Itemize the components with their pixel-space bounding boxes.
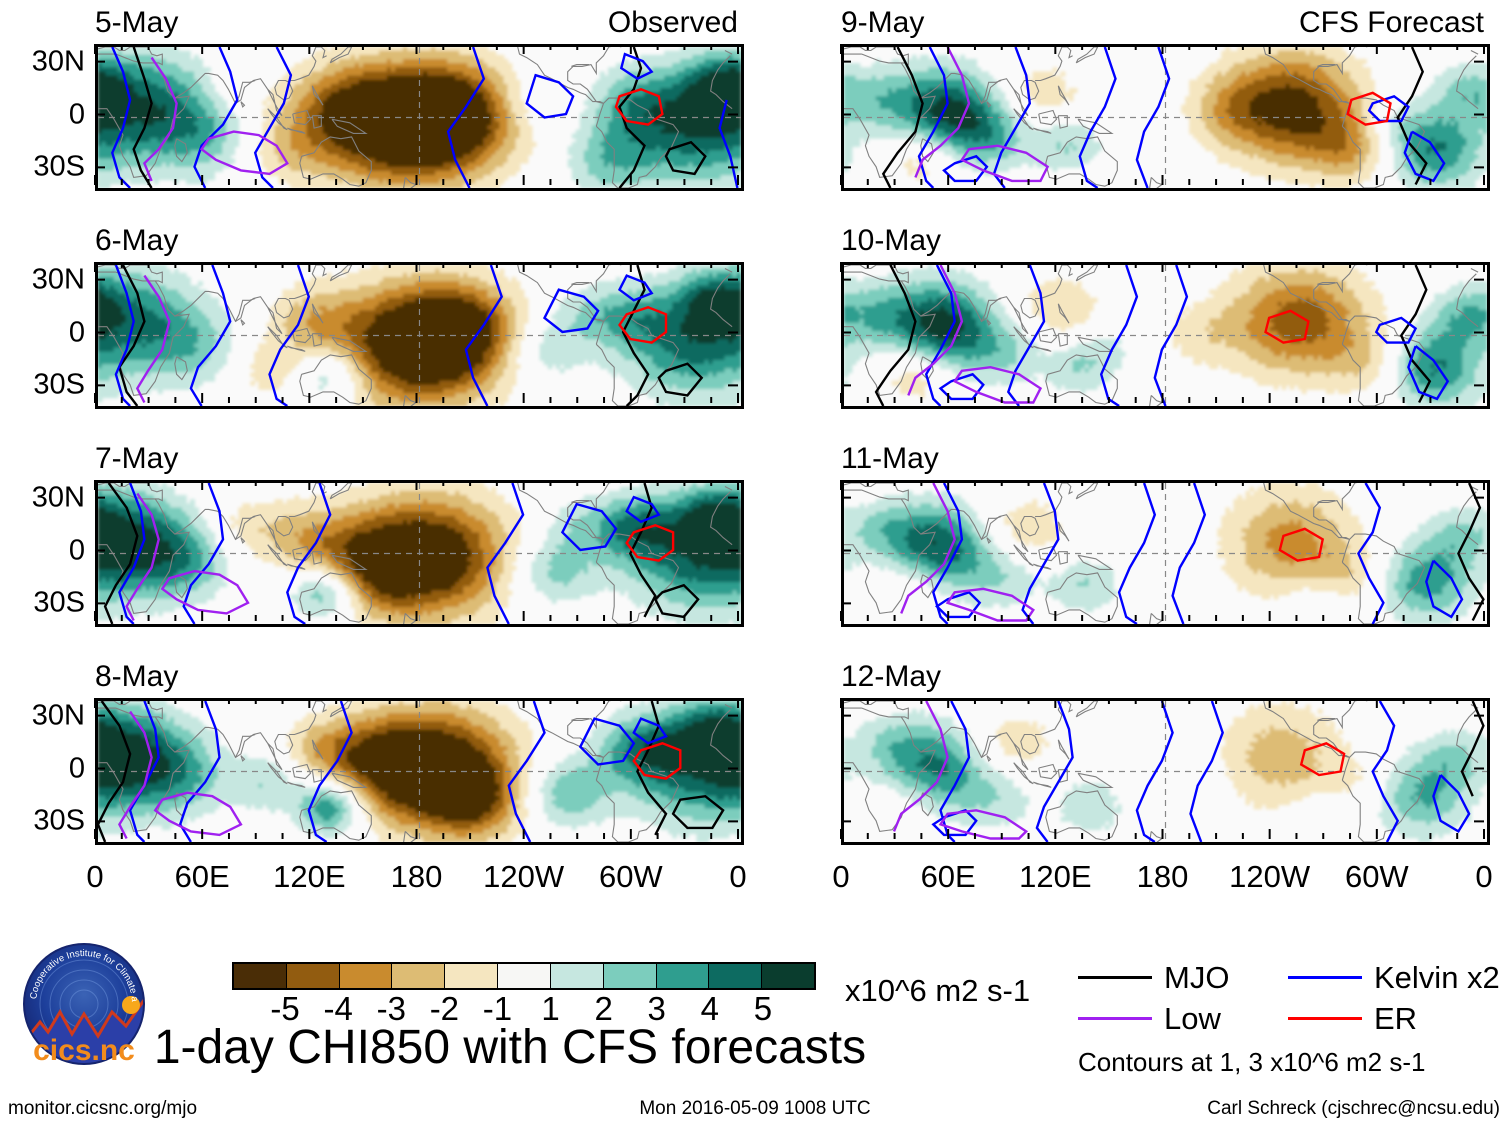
x-tick-label: 120E xyxy=(273,861,345,892)
footer: monitor.cicsnc.org/mjo Mon 2016-05-09 10… xyxy=(0,1098,1510,1128)
x-tick-label: 180 xyxy=(1137,861,1189,892)
x-axis-labels: 060E120E180120W60W0 xyxy=(95,853,738,893)
panel-date-label: 8-May xyxy=(95,662,178,692)
y-tick-label: 30S xyxy=(33,153,85,182)
map-plot-area xyxy=(841,480,1490,627)
colorbar-units: x10^6 m2 s-1 xyxy=(845,975,1030,1006)
legend-item-kelvin-x2: Kelvin x2 xyxy=(1288,962,1508,993)
legend-label: MJO xyxy=(1164,962,1229,993)
panel-date-label: 9-May xyxy=(841,8,924,38)
contour-legend: MJOKelvin x2LowER Contours at 1, 3 x10^6… xyxy=(1078,962,1508,1076)
map-plot-area xyxy=(841,698,1490,845)
colorbar-swatch xyxy=(551,964,604,988)
colorbar-swatch xyxy=(709,964,762,988)
panel-date-label: 5-May xyxy=(95,8,178,38)
map-plot-area xyxy=(95,262,744,409)
colorbar-swatch xyxy=(762,964,814,988)
legend-note: Contours at 1, 3 x10^6 m2 s-1 xyxy=(1078,1048,1508,1076)
x-tick-label: 0 xyxy=(832,861,849,892)
map-plot-area xyxy=(95,698,744,845)
panel-date-label: 10-May xyxy=(841,226,941,256)
legend-label: ER xyxy=(1374,1003,1417,1034)
x-tick-label: 120W xyxy=(483,861,564,892)
legend-item-er: ER xyxy=(1288,1003,1508,1034)
legend-grid: MJOKelvin x2LowER xyxy=(1078,962,1508,1034)
y-tick-label: 0 xyxy=(69,100,85,129)
colorbar-swatches xyxy=(232,962,816,990)
x-tick-label: 60E xyxy=(175,861,230,892)
colorbar-swatch xyxy=(604,964,657,988)
y-tick-label: 30S xyxy=(33,807,85,836)
colorbar-swatch xyxy=(392,964,445,988)
legend-item-mjo: MJO xyxy=(1078,962,1288,993)
y-tick-label: 0 xyxy=(69,536,85,565)
legend-item-low: Low xyxy=(1078,1003,1288,1034)
legend-label: Low xyxy=(1164,1003,1221,1034)
column-header: Observed xyxy=(608,8,738,38)
x-tick-label: 120E xyxy=(1019,861,1091,892)
y-tick-label: 30S xyxy=(33,371,85,400)
y-tick-label: 30N xyxy=(32,47,85,76)
x-axis-labels: 060E120E180120W60W0 xyxy=(841,853,1484,893)
colorbar-swatch xyxy=(287,964,340,988)
map-plot-area xyxy=(95,44,744,191)
footer-author: Carl Schreck (cjschrec@ncsu.edu) xyxy=(1207,1098,1500,1120)
colorbar-swatch xyxy=(340,964,393,988)
footer-site[interactable]: monitor.cicsnc.org/mjo xyxy=(8,1098,197,1120)
map-plot-area xyxy=(95,480,744,627)
legend-label: Kelvin x2 xyxy=(1374,962,1500,993)
colorbar-swatch xyxy=(234,964,287,988)
x-tick-label: 60W xyxy=(1345,861,1409,892)
map-plot-area xyxy=(841,44,1490,191)
panel-date-label: 7-May xyxy=(95,444,178,474)
panel-grid: 5-MayObserved30N030S6-May30N030S7-May30N… xyxy=(0,0,1510,910)
panel-date-label: 12-May xyxy=(841,662,941,692)
x-tick-label: 0 xyxy=(1475,861,1492,892)
panel-date-label: 6-May xyxy=(95,226,178,256)
colorbar-swatch xyxy=(657,964,710,988)
x-tick-label: 0 xyxy=(729,861,746,892)
figure-title: 1-day CHI850 with CFS forecasts xyxy=(0,1022,1020,1074)
legend-line-swatch xyxy=(1078,1017,1152,1020)
legend-line-swatch xyxy=(1288,1017,1362,1020)
x-tick-label: 120W xyxy=(1229,861,1310,892)
footer-timestamp: Mon 2016-05-09 1008 UTC xyxy=(639,1098,870,1120)
colorbar-swatch xyxy=(498,964,551,988)
panel-date-label: 11-May xyxy=(841,444,939,474)
colorbar-swatch xyxy=(445,964,498,988)
y-tick-label: 30N xyxy=(32,701,85,730)
legend-line-swatch xyxy=(1288,976,1362,979)
y-tick-label: 0 xyxy=(69,318,85,347)
y-tick-label: 30N xyxy=(32,483,85,512)
x-tick-label: 60W xyxy=(599,861,663,892)
x-tick-label: 0 xyxy=(86,861,103,892)
x-tick-label: 180 xyxy=(391,861,443,892)
y-tick-label: 30N xyxy=(32,265,85,294)
y-tick-label: 30S xyxy=(33,589,85,618)
y-tick-label: 0 xyxy=(69,754,85,783)
legend-line-swatch xyxy=(1078,976,1152,979)
map-plot-area xyxy=(841,262,1490,409)
column-header: CFS Forecast xyxy=(1299,8,1484,38)
x-tick-label: 60E xyxy=(921,861,976,892)
